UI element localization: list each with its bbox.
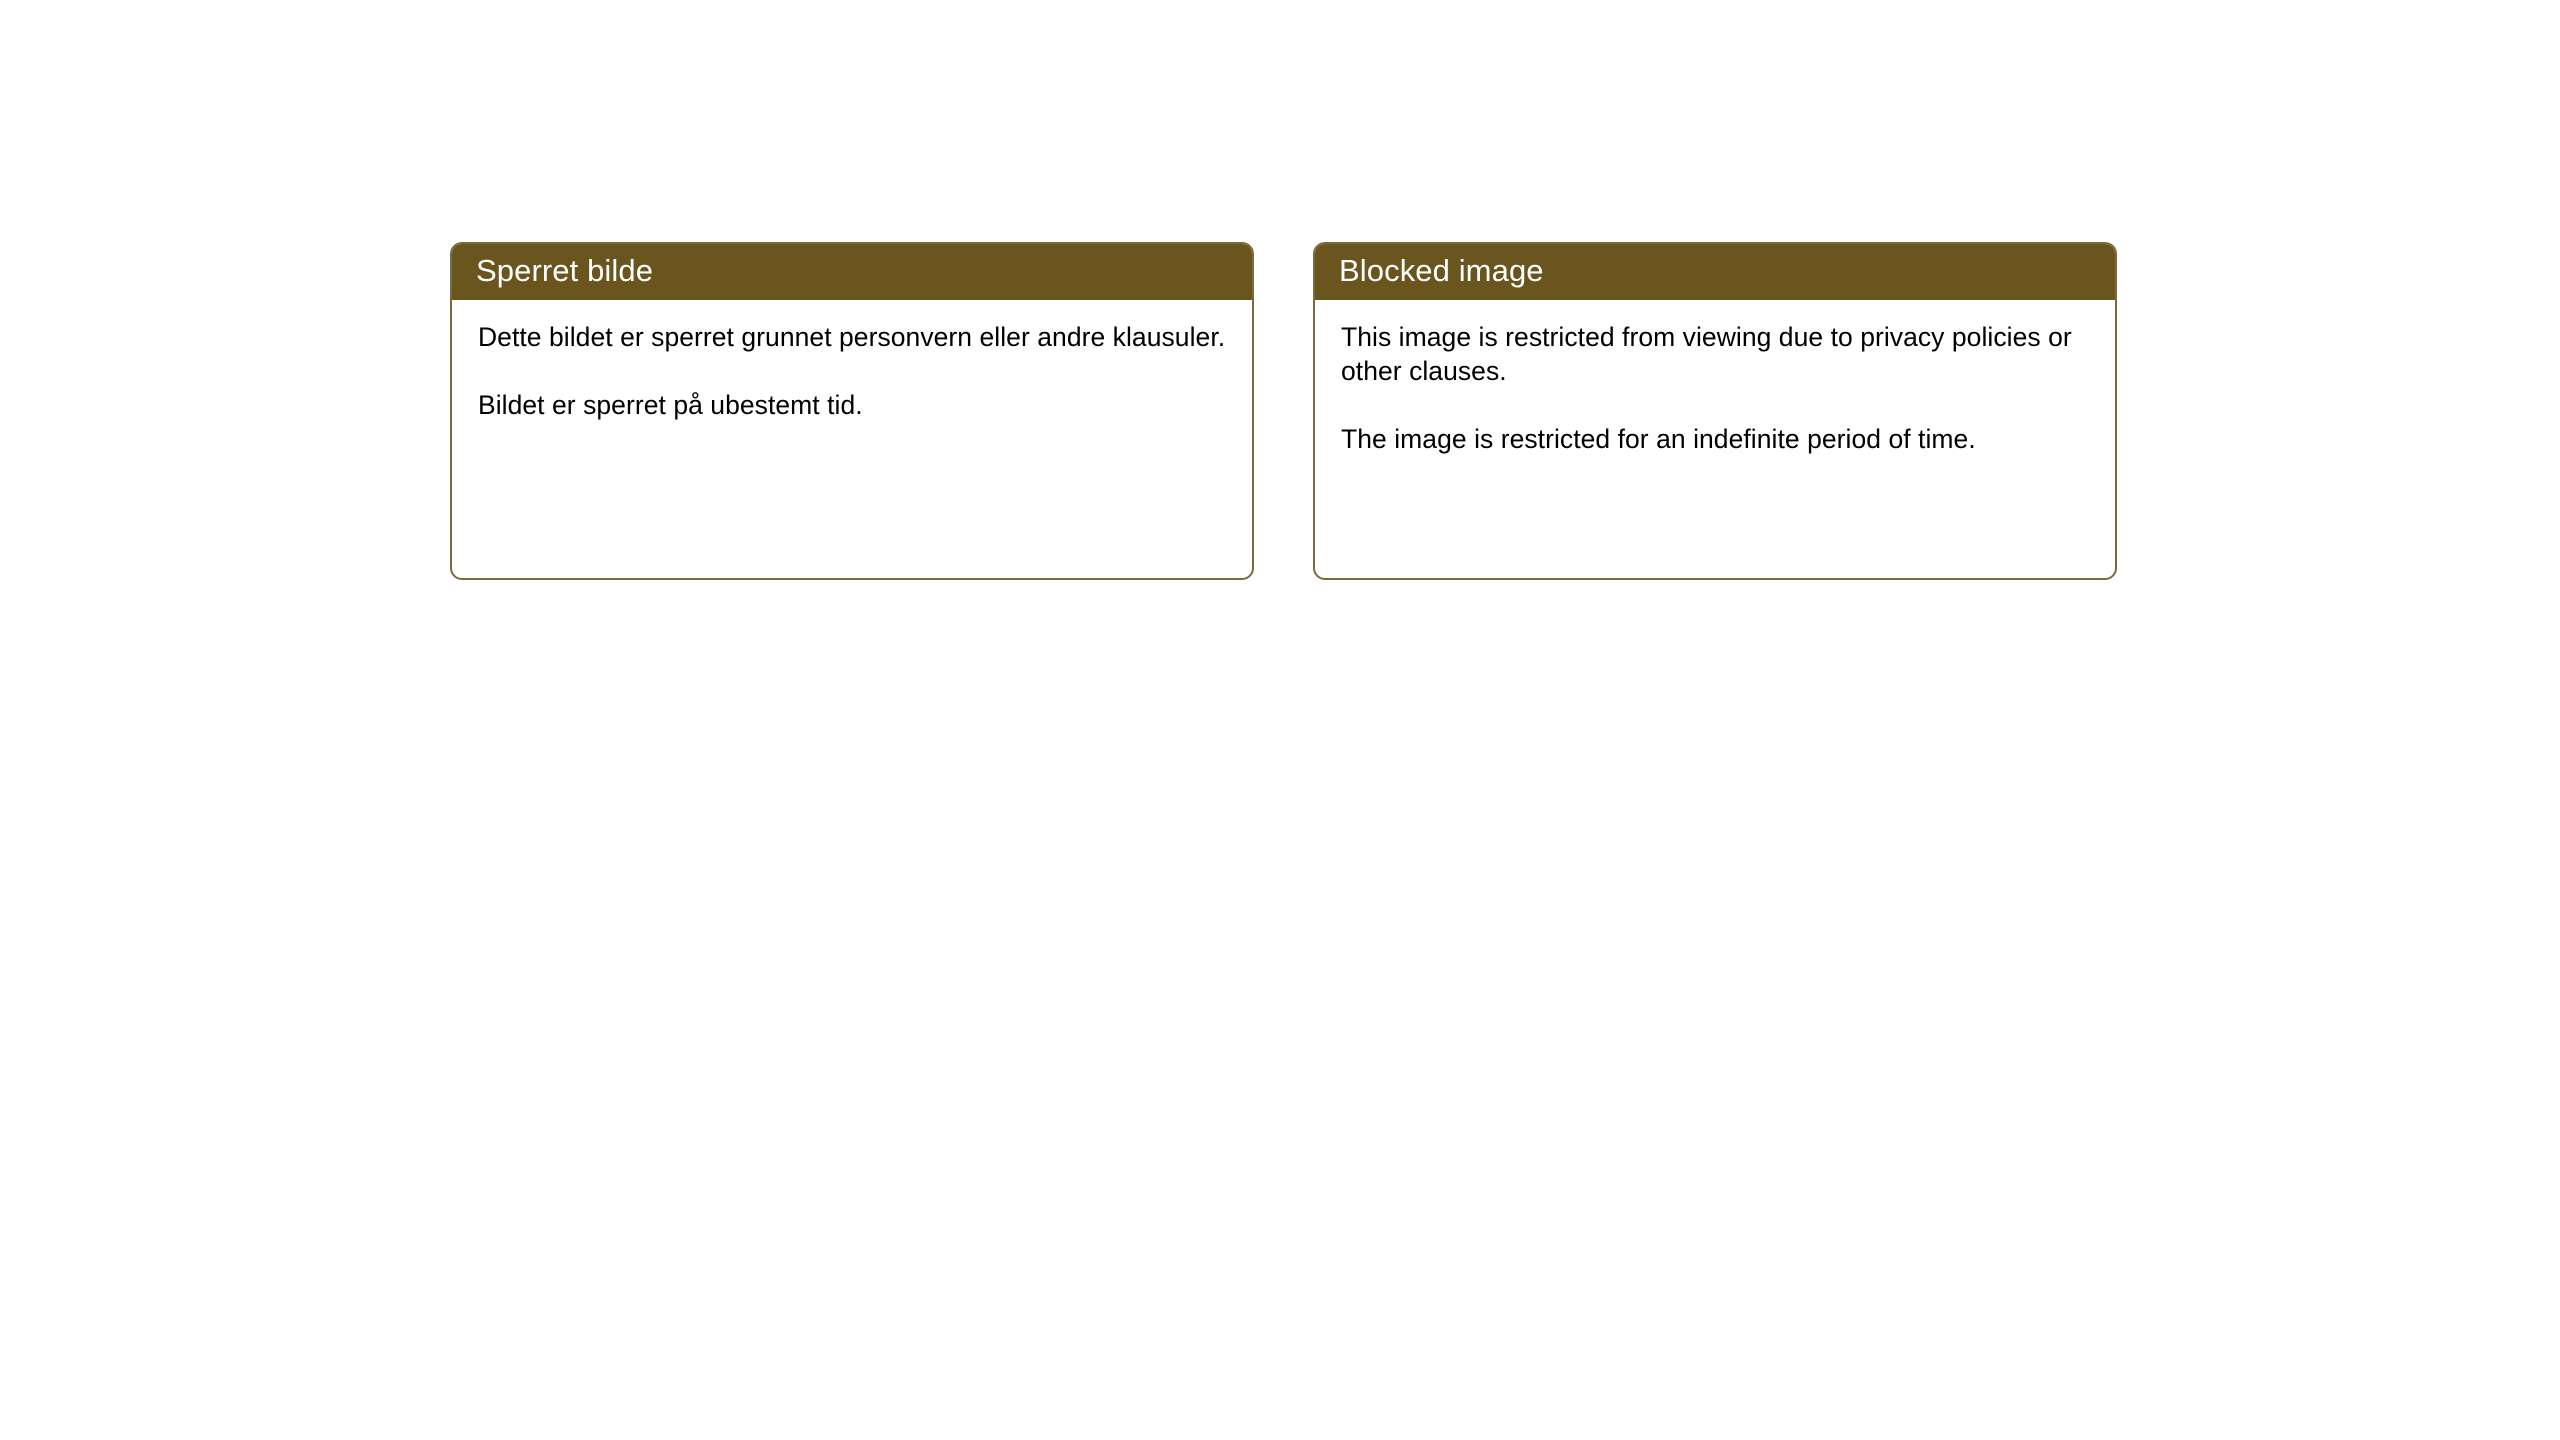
card-paragraph-norwegian-2: Bildet er sperret på ubestemt tid. xyxy=(478,388,1226,422)
card-title-english: Blocked image xyxy=(1339,254,1544,288)
card-paragraph-norwegian-1: Dette bildet er sperret grunnet personve… xyxy=(478,320,1226,354)
blocked-image-card-english: Blocked image This image is restricted f… xyxy=(1313,242,2117,580)
card-header-norwegian: Sperret bilde xyxy=(450,242,1254,300)
card-paragraph-english-1: This image is restricted from viewing du… xyxy=(1341,320,2089,388)
blocked-image-notices: Sperret bilde Dette bildet er sperret gr… xyxy=(450,242,2117,580)
card-header-english: Blocked image xyxy=(1313,242,2117,300)
card-body-norwegian: Dette bildet er sperret grunnet personve… xyxy=(452,300,1252,578)
card-body-english: This image is restricted from viewing du… xyxy=(1315,300,2115,578)
blocked-image-card-norwegian: Sperret bilde Dette bildet er sperret gr… xyxy=(450,242,1254,580)
card-title-norwegian: Sperret bilde xyxy=(476,254,653,288)
card-paragraph-english-2: The image is restricted for an indefinit… xyxy=(1341,422,2089,456)
